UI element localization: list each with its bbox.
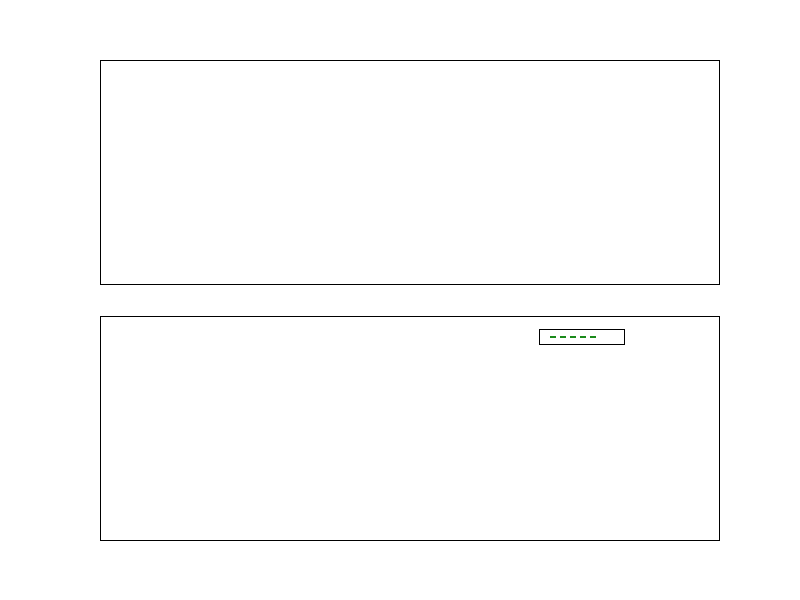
legend <box>539 329 625 345</box>
bottom-plot-area <box>101 317 719 540</box>
cumulative-curve <box>101 317 719 540</box>
top-histogram-axes <box>100 60 720 285</box>
top-plot-area <box>101 61 719 284</box>
bottom-cumulative-axes <box>100 316 720 541</box>
figure-canvas <box>0 0 800 600</box>
legend-dashed-line-icon <box>550 336 596 338</box>
